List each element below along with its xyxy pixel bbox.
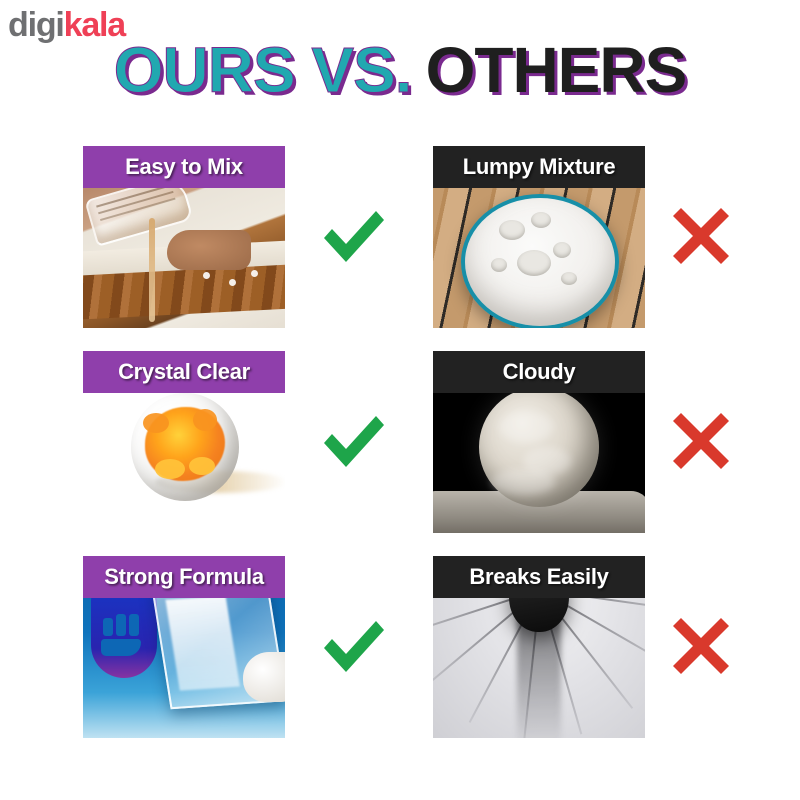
title-ours: OURS VS. <box>114 38 412 102</box>
check-mark-row1 <box>308 192 400 280</box>
comparison-row: Crystal Clear Cloudy <box>0 345 800 550</box>
check-mark-row3 <box>308 602 400 690</box>
title-others: OTHERS <box>426 38 687 102</box>
others-card-row1: Lumpy Mixture <box>433 146 645 328</box>
others-card-label-row3: Breaks Easily <box>433 556 645 598</box>
others-card-label-row1: Lumpy Mixture <box>433 146 645 188</box>
cross-mark-row3 <box>655 602 747 690</box>
ours-card-row2: Crystal Clear <box>83 351 285 533</box>
ours-card-row1: Easy to Mix <box>83 146 285 328</box>
ours-card-label-row3: Strong Formula <box>83 556 285 598</box>
ours-card-label-row1: Easy to Mix <box>83 146 285 188</box>
others-card-row3: Breaks Easily <box>433 556 645 738</box>
ours-card-label-row2: Crystal Clear <box>83 351 285 393</box>
comparison-row: Easy to Mix Lumpy Mixture <box>0 140 800 345</box>
cross-mark-row1 <box>655 192 747 280</box>
cross-mark-row2 <box>655 397 747 485</box>
digikala-logo: digikala <box>8 8 125 42</box>
page-title: OURS VS.OTHERS <box>0 38 800 102</box>
comparison-row: Strong Formula Breaks Easily <box>0 550 800 755</box>
comparison-grid: Easy to Mix Lumpy Mixture <box>0 140 800 780</box>
others-card-row2: Cloudy <box>433 351 645 533</box>
ours-card-row3: Strong Formula <box>83 556 285 738</box>
others-card-label-row2: Cloudy <box>433 351 645 393</box>
check-mark-row2 <box>308 397 400 485</box>
